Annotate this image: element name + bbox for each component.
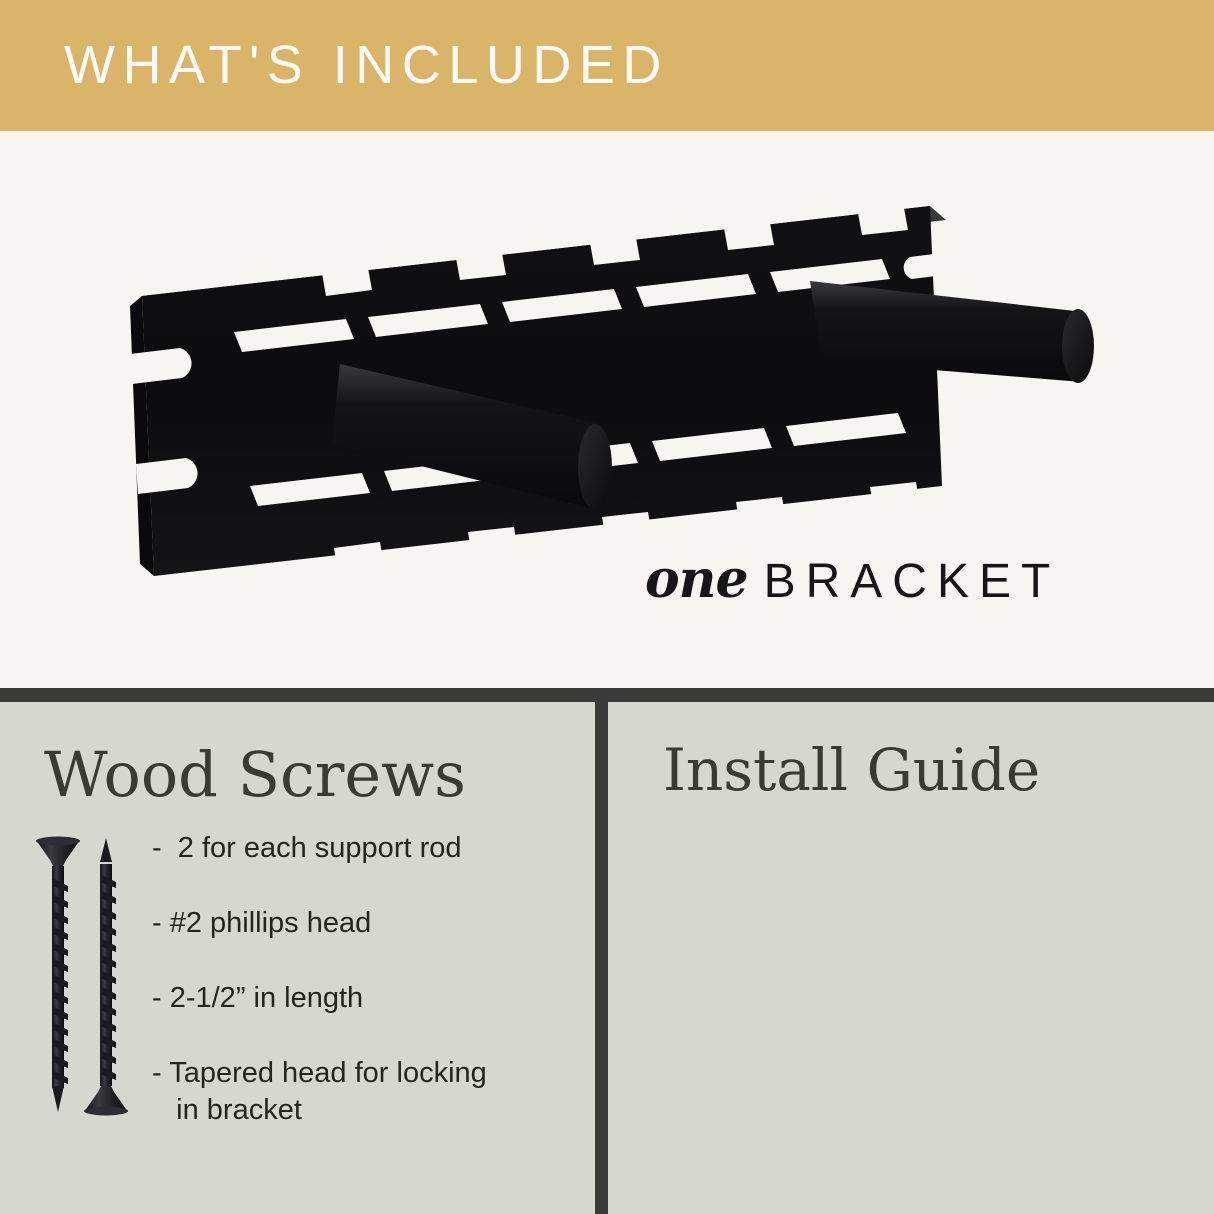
screw-head-down bbox=[84, 838, 128, 1116]
screws-illustration bbox=[22, 830, 142, 1120]
caption-product: BRACKET bbox=[764, 555, 1061, 608]
horizontal-divider bbox=[0, 688, 1214, 702]
list-item: - #2 phillips head bbox=[152, 905, 582, 942]
screw-head-up bbox=[36, 837, 80, 1113]
install-guide-title: Install Guide bbox=[663, 736, 1040, 804]
wood-screws-panel: Wood Screws bbox=[0, 702, 595, 1214]
banner-title: WHAT'S INCLUDED bbox=[64, 27, 669, 103]
infographic-page: WHAT'S INCLUDED bbox=[0, 0, 1214, 1214]
list-item: - 2-1/2” in length bbox=[152, 980, 582, 1017]
install-guide-panel: Install Guide hiddenBracket Installation… bbox=[608, 702, 1214, 1214]
wood-screws-bullet-list: - 2 for each support rod - #2 phillips h… bbox=[152, 830, 582, 1129]
product-caption: oneBRACKET bbox=[645, 549, 1060, 610]
whats-included-banner: WHAT'S INCLUDED bbox=[0, 0, 1214, 131]
bracket-product-image bbox=[110, 186, 1120, 606]
caption-quantity: one bbox=[645, 549, 748, 610]
hero-product-panel: oneBRACKET bbox=[0, 131, 1214, 688]
vertical-divider bbox=[595, 702, 608, 1214]
bracket-illustration bbox=[110, 186, 1120, 606]
list-item: - 2 for each support rod bbox=[152, 830, 582, 867]
list-item: - Tapered head for locking in bracket bbox=[152, 1055, 582, 1129]
wood-screws-title: Wood Screws bbox=[44, 738, 466, 811]
bracket-plate bbox=[130, 206, 946, 576]
wood-screws-image bbox=[22, 830, 142, 1120]
